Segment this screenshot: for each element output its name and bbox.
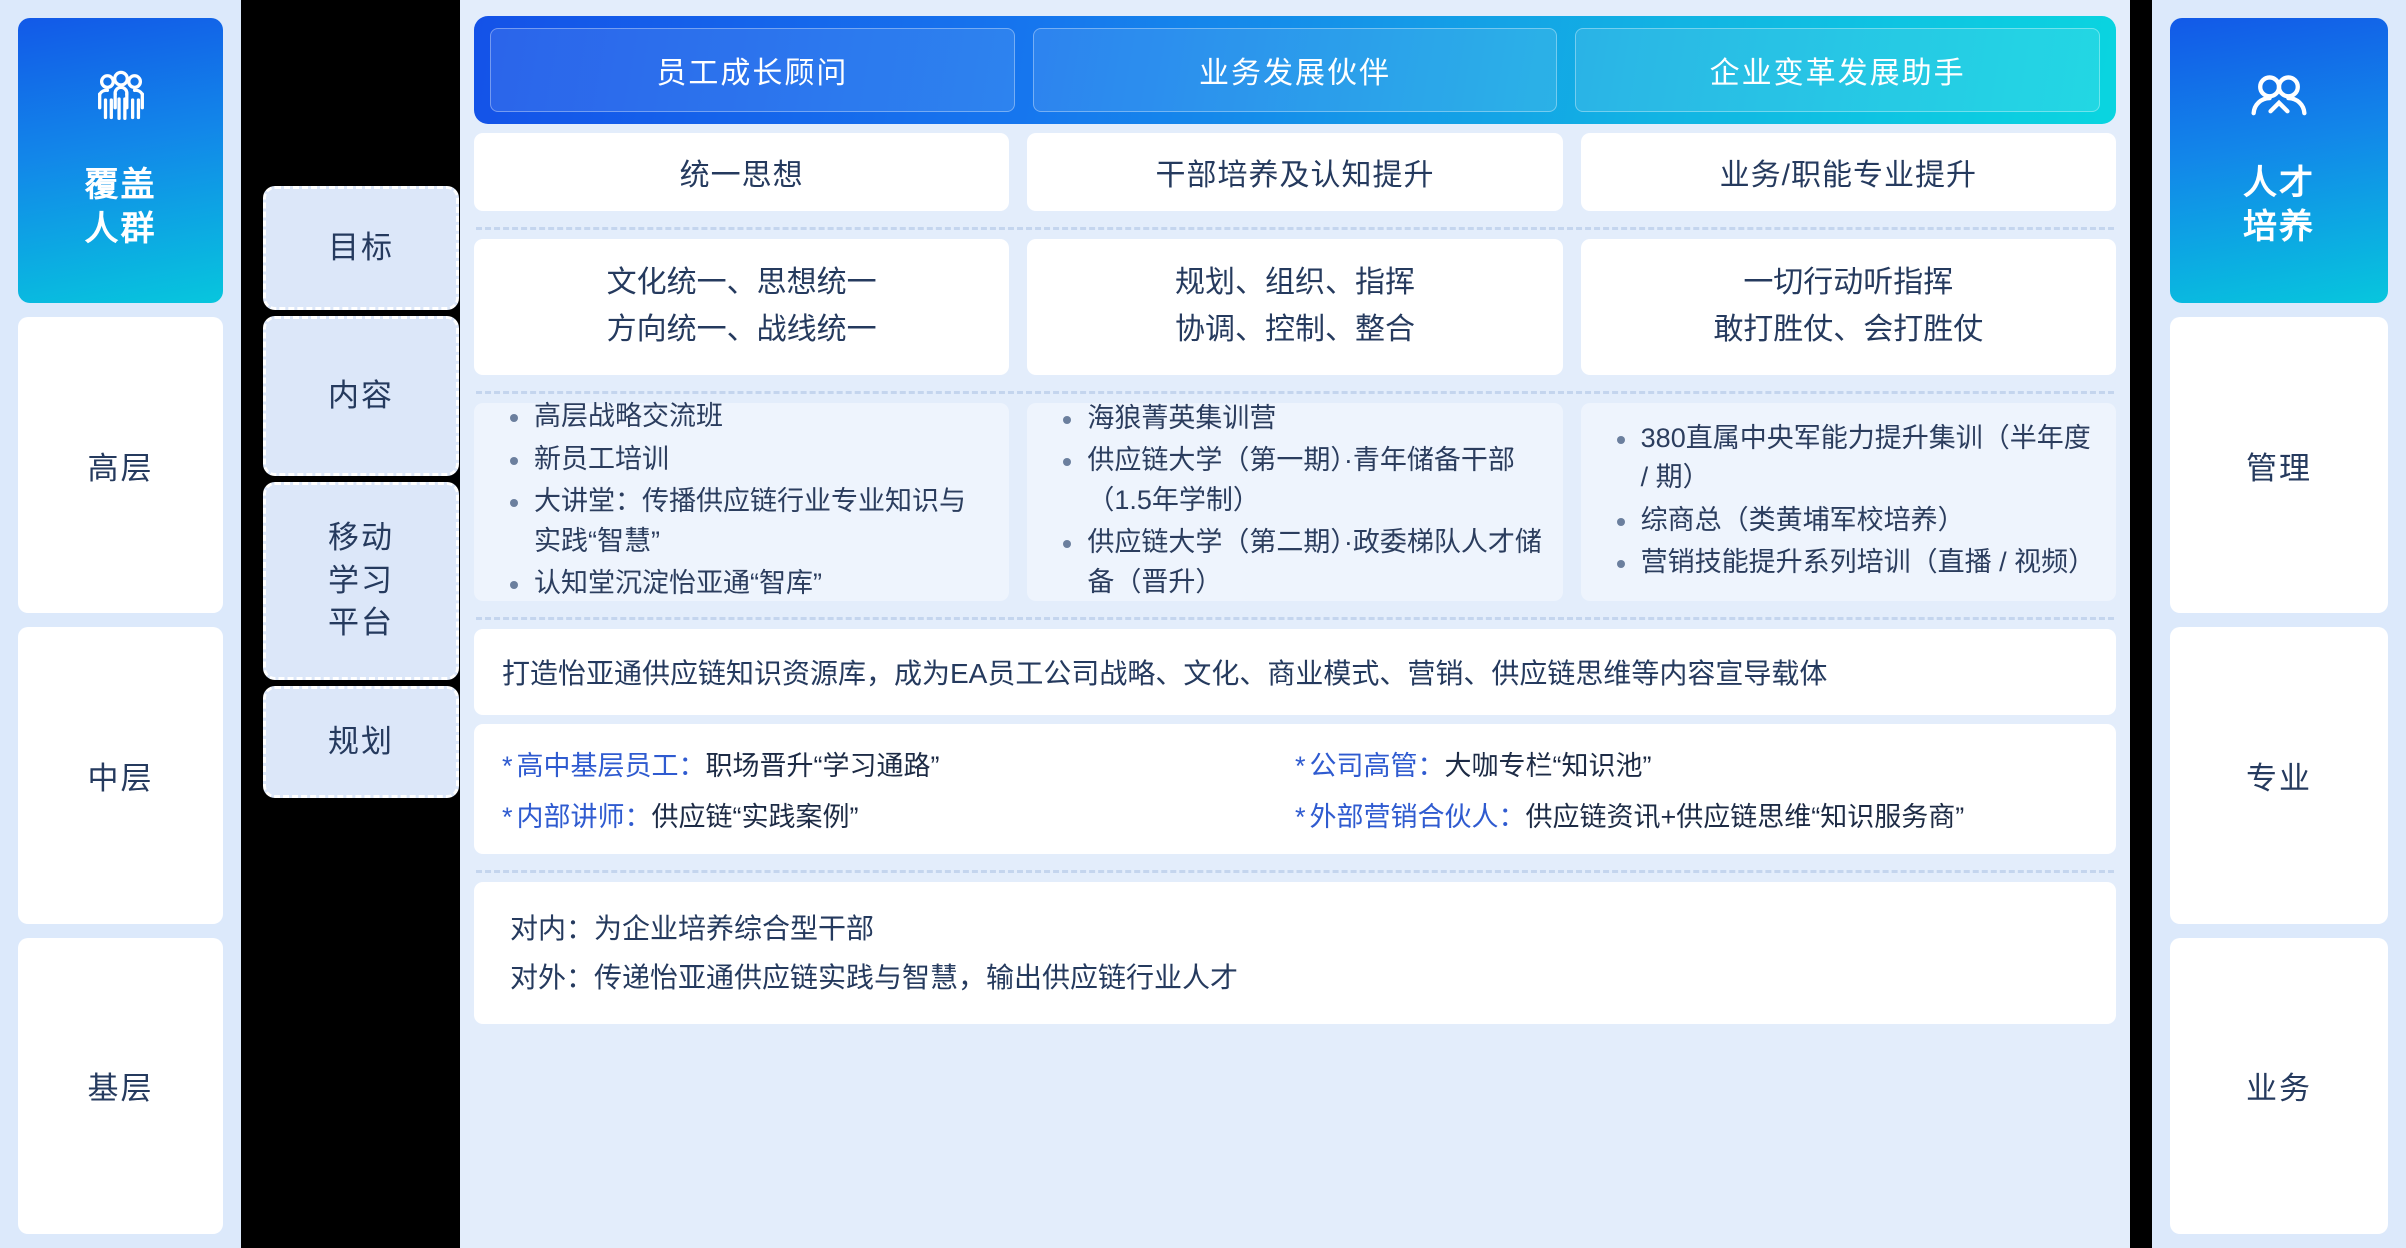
left-sidebar-header: 覆盖 人群 [18, 18, 223, 303]
tab-label: 企业变革发展助手 [1710, 48, 1966, 92]
dimension-plan[interactable]: 规划 [263, 686, 459, 798]
content-list-1: 高层战略交流班 新员工培训 大讲堂：传播供应链行业专业知识与实践“智慧” 认知堂… [474, 397, 1009, 606]
sidebar-item-label: 专业 [2246, 753, 2312, 798]
content-card-2: 海狼菁英集训营 供应链大学（第一期）·青年储备干部（1.5年学制） 供应链大学（… [1027, 403, 1562, 601]
audience-value: 大咖专栏“知识池” [1445, 744, 1652, 783]
row-divider-platform [476, 608, 2114, 620]
dimension-platform[interactable]: 移动 学习 平台 [263, 482, 459, 680]
sidebar-item-base[interactable]: 基层 [18, 938, 223, 1234]
content-list-3: 380直属中央军能力提升集训（半年度 / 期） 综商总（类黄埔军校培养） 营销技… [1581, 419, 2116, 586]
goal-line: 规划、组织、指挥 [1175, 260, 1415, 307]
list-item: 新员工培训 [508, 440, 991, 479]
goal-row: 文化统一、思想统一 方向统一、战线统一 规划、组织、指挥 协调、控制、整合 一切… [474, 239, 2116, 375]
platform-audience-card: * 高中基层员工： 职场晋升“学习通路” * 公司高管： 大咖专栏“知识池” *… [474, 724, 2116, 854]
list-item: 综商总（类黄埔军校培养） [1615, 501, 2098, 540]
audience-row-internal-trainers: * 内部讲师： 供应链“实践案例” [502, 795, 1295, 834]
audience-key: 内部讲师： [517, 795, 652, 834]
goal-card-3: 一切行动听指挥 敢打胜仗、会打胜仗 [1581, 239, 2116, 375]
platform-statement-card: 打造怡亚通供应链知识资源库，成为EA员工公司战略、文化、商业模式、营销、供应链思… [474, 629, 2116, 715]
goal-line: 协调、控制、整合 [1175, 307, 1415, 354]
hero-banner: 员工成长顾问 业务发展伙伴 企业变革发展助手 [474, 16, 2116, 124]
subtitle-row: 统一思想 干部培养及认知提升 业务/职能专业提升 [474, 133, 2116, 211]
dimension-label: 目标 [328, 227, 394, 270]
right-sidebar: 人才 培养 管理 专业 业务 [2152, 0, 2406, 1248]
left-sidebar: 覆盖 人群 高层 中层 基层 [0, 0, 241, 1248]
right-sidebar-title: 人才 培养 [2243, 162, 2315, 249]
audience-key: 公司高管： [1310, 744, 1445, 783]
audience-key: 高中基层员工： [517, 744, 706, 783]
content-row: 高层战略交流班 新员工培训 大讲堂：传播供应链行业专业知识与实践“智慧” 认知堂… [474, 403, 2116, 601]
tab-employee-growth-advisor[interactable]: 员工成长顾问 [490, 28, 1015, 112]
list-item: 营销技能提升系列培训（直播 / 视频） [1615, 543, 2098, 582]
sidebar-item-label: 中层 [88, 753, 154, 798]
goal-line: 文化统一、思想统一 [607, 260, 877, 307]
list-item: 认知堂沉淀怡亚通“智库” [508, 564, 991, 603]
goal-line: 方向统一、战线统一 [607, 307, 877, 354]
subtitle-cadre-training: 干部培养及认知提升 [1027, 133, 1562, 211]
audience-row-grassroots: * 高中基层员工： 职场晋升“学习通路” [502, 744, 1295, 783]
content-card-3: 380直属中央军能力提升集训（半年度 / 期） 综商总（类黄埔军校培养） 营销技… [1581, 403, 2116, 601]
platform-audience-grid: * 高中基层员工： 职场晋升“学习通路” * 公司高管： 大咖专栏“知识池” *… [502, 744, 2088, 834]
list-item: 海狼菁英集训营 [1061, 399, 1544, 438]
tab-label: 员工成长顾问 [656, 48, 848, 92]
asterisk-icon: * [502, 802, 513, 833]
sidebar-item-label: 基层 [88, 1063, 154, 1108]
two-people-icon [2248, 71, 2310, 134]
row-divider-content [476, 382, 2114, 394]
sidebar-item-label: 业务 [2246, 1063, 2312, 1108]
dimension-goal[interactable]: 目标 [263, 186, 459, 310]
audience-value: 供应链资讯+供应链思维“知识服务商” [1526, 795, 1965, 834]
dimension-label: 规划 [328, 721, 394, 764]
left-sidebar-title-line-2: 人群 [85, 208, 157, 252]
goal-card-2: 规划、组织、指挥 协调、控制、整合 [1027, 239, 1562, 375]
left-sidebar-title-line-1: 覆盖 [85, 164, 157, 208]
tab-business-development-partner[interactable]: 业务发展伙伴 [1033, 28, 1558, 112]
goal-card-1: 文化统一、思想统一 方向统一、战线统一 [474, 239, 1009, 375]
asterisk-icon: * [1295, 802, 1306, 833]
right-sidebar-title-line-2: 培养 [2243, 206, 2315, 250]
list-item: 供应链大学（第二期）·政委梯队人才储备（晋升） [1061, 523, 1544, 602]
audience-value: 供应链“实践案例” [652, 795, 859, 834]
content-list-2: 海狼菁英集训营 供应链大学（第一期）·青年储备干部（1.5年学制） 供应链大学（… [1027, 399, 1562, 605]
sidebar-item-middle[interactable]: 中层 [18, 627, 223, 923]
audience-value: 职场晋升“学习通路” [706, 744, 940, 783]
goal-line: 敢打胜仗、会打胜仗 [1713, 307, 1983, 354]
subtitle-unify-thought: 统一思想 [474, 133, 1009, 211]
sidebar-item-management[interactable]: 管理 [2170, 317, 2388, 613]
sidebar-item-label: 管理 [2246, 443, 2312, 488]
subtitle-professional-uplift: 业务/职能专业提升 [1581, 133, 2116, 211]
subtitle-label: 干部培养及认知提升 [1155, 150, 1434, 194]
dimension-label: 内容 [328, 375, 394, 418]
platform-statement: 打造怡亚通供应链知识资源库，成为EA员工公司战略、文化、商业模式、营销、供应链思… [502, 652, 2088, 692]
sidebar-item-senior[interactable]: 高层 [18, 317, 223, 613]
asterisk-icon: * [1295, 751, 1306, 782]
subtitle-label: 业务/职能专业提升 [1720, 150, 1977, 194]
plan-card: 对内：为企业培养综合型干部 对外：传递怡亚通供应链实践与智慧，输出供应链行业人才 [474, 882, 2116, 1024]
audience-row-external-partners: * 外部营销合伙人： 供应链资讯+供应链思维“知识服务商” [1295, 795, 2088, 834]
list-item: 380直属中央军能力提升集训（半年度 / 期） [1615, 419, 2098, 498]
sidebar-item-professional[interactable]: 专业 [2170, 627, 2388, 923]
right-sidebar-title-line-1: 人才 [2243, 162, 2315, 206]
dimension-content[interactable]: 内容 [263, 316, 459, 476]
group-people-icon [90, 69, 152, 136]
right-divider [2130, 0, 2152, 1248]
plan-line-internal: 对内：为企业培养综合型干部 [510, 904, 2080, 953]
list-item: 大讲堂：传播供应链行业专业知识与实践“智慧” [508, 482, 991, 561]
plan-line-external: 对外：传递怡亚通供应链实践与智慧，输出供应链行业人才 [510, 953, 2080, 1002]
left-sidebar-title: 覆盖 人群 [85, 164, 157, 251]
list-item: 高层战略交流班 [508, 397, 991, 436]
subtitle-label: 统一思想 [680, 150, 804, 194]
content-card-1: 高层战略交流班 新员工培训 大讲堂：传播供应链行业专业知识与实践“智慧” 认知堂… [474, 403, 1009, 601]
tab-enterprise-change-assistant[interactable]: 企业变革发展助手 [1575, 28, 2100, 112]
goal-line: 一切行动听指挥 [1713, 260, 1983, 307]
tab-label: 业务发展伙伴 [1199, 48, 1391, 92]
audience-row-executives: * 公司高管： 大咖专栏“知识池” [1295, 744, 2088, 783]
sidebar-item-label: 高层 [88, 443, 154, 488]
list-item: 供应链大学（第一期）·青年储备干部（1.5年学制） [1061, 441, 1544, 520]
asterisk-icon: * [502, 751, 513, 782]
sidebar-item-business[interactable]: 业务 [2170, 938, 2388, 1234]
main-panel: 员工成长顾问 业务发展伙伴 企业变革发展助手 统一思想 干部培养及认知提升 业务… [460, 0, 2130, 1248]
row-divider-goal [476, 218, 2114, 230]
infographic-root: 覆盖 人群 高层 中层 基层 目标 内容 移动 学习 平台 规划 员工成长顾问 … [0, 0, 2406, 1248]
dimension-label: 移动 学习 平台 [328, 517, 394, 645]
right-sidebar-header: 人才 培养 [2170, 18, 2388, 303]
row-divider-plan [476, 861, 2114, 873]
audience-key: 外部营销合伙人： [1310, 795, 1526, 834]
